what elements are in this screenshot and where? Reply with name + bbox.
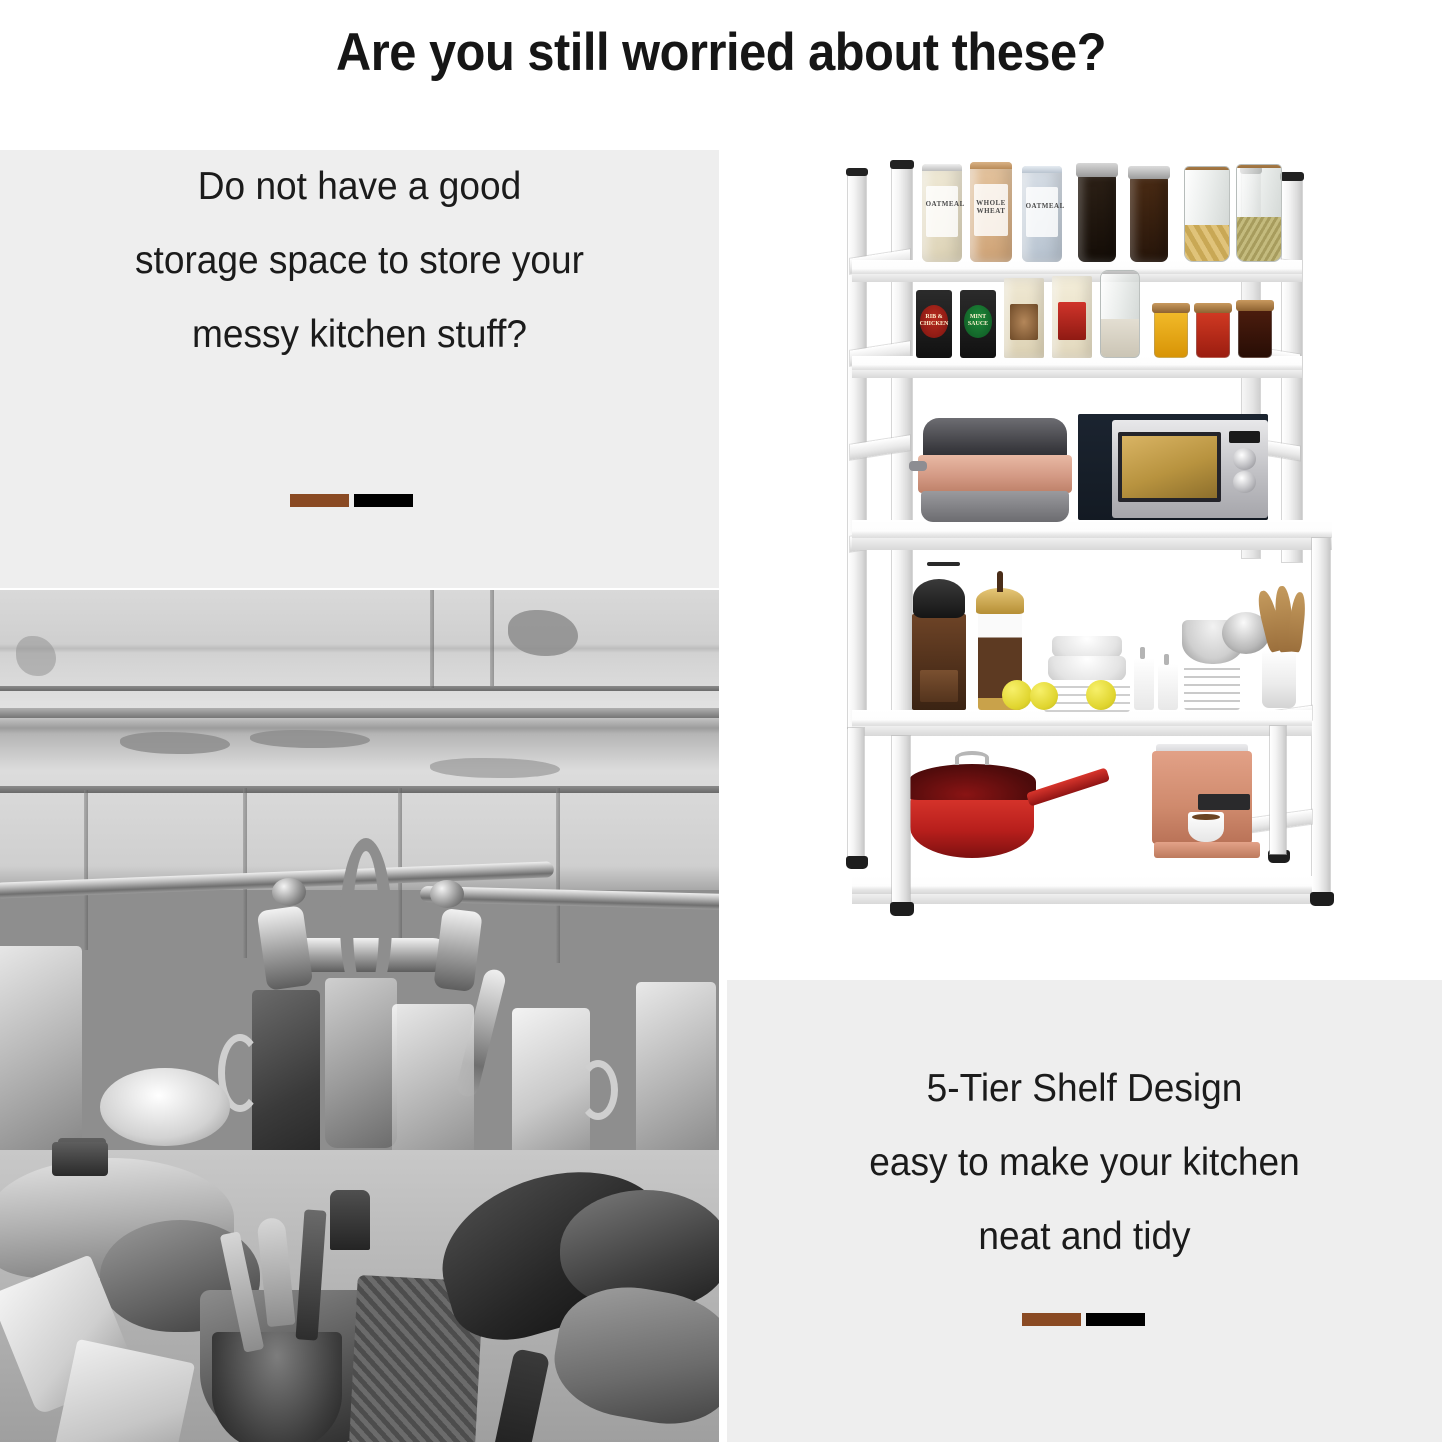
espresso-group-head — [1198, 794, 1250, 810]
faucet-handle — [430, 880, 464, 908]
solution-panel: 5-Tier Shelf Design easy to make your ki… — [727, 980, 1442, 1442]
pan-handle — [1026, 767, 1110, 806]
pot-lid-knob — [52, 1142, 108, 1176]
problem-panel: Do not have a good storage space to stor… — [0, 150, 719, 588]
dirty-glass — [0, 946, 82, 1156]
mug-handle — [578, 1060, 618, 1120]
jar-lid — [1152, 303, 1189, 313]
shelf-post-front-right-lower — [1312, 538, 1330, 896]
lemon — [1086, 680, 1116, 710]
microwave-front-panel — [1112, 420, 1268, 518]
dirty-plate — [100, 1068, 230, 1146]
messy-kitchen-photo — [0, 590, 719, 1442]
dispenser-nozzle — [1164, 654, 1169, 665]
small-jar-red — [1196, 310, 1230, 358]
wall-grout-line — [84, 790, 88, 950]
problem-divider — [290, 494, 413, 507]
wall-grout-line — [0, 708, 719, 718]
spatula-head — [330, 1190, 370, 1250]
divider-bar-brown — [1022, 1313, 1081, 1326]
post-cap — [1280, 172, 1304, 181]
wall-paint-chip — [430, 758, 560, 778]
canister-lid — [1022, 166, 1062, 173]
espresso-drip-tray — [1154, 842, 1260, 858]
problem-line-2: storage space to store your — [18, 224, 701, 298]
rice-cooker-base — [921, 491, 1069, 522]
grinder-crank — [927, 562, 959, 566]
box-label — [1010, 304, 1039, 341]
wall-grout-line — [430, 590, 434, 688]
wall-grout-line — [556, 788, 560, 963]
grinder-drawer — [920, 670, 959, 703]
sauce-label: RIB &CHICKEN — [920, 305, 949, 338]
shelf-foot — [846, 856, 868, 869]
microwave-control-panel — [1226, 428, 1263, 510]
wall-grout-line — [490, 590, 494, 686]
canister-oatmeal-2: OATMEAL — [1022, 166, 1062, 262]
microwave-display — [1229, 431, 1260, 442]
dirty-bowl — [212, 1332, 342, 1442]
solution-line-3: neat and tidy — [745, 1200, 1424, 1274]
grinder-dome — [913, 579, 965, 617]
cream-box-2 — [1052, 276, 1092, 358]
rice-cooker-lid — [923, 418, 1068, 460]
rice-cooker-handle — [909, 461, 927, 471]
press-lid — [976, 588, 1024, 613]
shelf-board-edge — [852, 894, 1312, 904]
shelf-leg-back-left — [848, 728, 864, 860]
canister-lid — [922, 164, 962, 171]
shelf-board-edge — [852, 370, 1302, 378]
glass-jar-pasta — [1184, 166, 1230, 262]
wall-paint-chip — [120, 732, 230, 754]
jar-lid — [1100, 270, 1140, 274]
microwave-door — [1118, 432, 1221, 502]
wall-paint-chip — [250, 730, 370, 748]
solution-line-2: easy to make your kitchen — [745, 1126, 1424, 1200]
utensil-crock — [1262, 650, 1296, 708]
microwave-oven — [1078, 414, 1268, 520]
canister-oatmeal-1: OATMEAL — [922, 164, 962, 262]
coffee-cup — [1188, 812, 1224, 842]
infographic-page: Are you still worried about these? Do no… — [0, 0, 1442, 1442]
small-jar-dark — [1238, 308, 1272, 358]
divider-bar-brown — [290, 494, 349, 507]
problem-text-block: Do not have a good storage space to stor… — [18, 150, 701, 372]
canister-whole-wheat: WHOLE WHEAT — [970, 162, 1012, 262]
problem-line-1: Do not have a good — [18, 150, 701, 224]
microwave-dial-lower — [1233, 471, 1255, 493]
cream-box-1 — [1004, 278, 1044, 358]
faucet-valve — [257, 905, 314, 991]
soap-dispenser-2 — [1158, 664, 1178, 710]
shelf-board-tier5 — [852, 876, 1312, 894]
post-cap — [890, 160, 914, 169]
jar-lid — [1184, 166, 1230, 170]
plate-stack-right — [1184, 662, 1240, 710]
jar-lid — [1194, 303, 1231, 313]
jar-lid — [1076, 163, 1117, 176]
shelf-board-edge — [852, 538, 1332, 550]
solution-line-1: 5-Tier Shelf Design — [745, 1052, 1424, 1126]
dark-jar-2 — [1130, 176, 1168, 262]
jar-lid — [1128, 166, 1169, 179]
problem-line-3: messy kitchen stuff? — [18, 298, 701, 372]
lemon — [1030, 682, 1058, 710]
canister-lid — [970, 162, 1012, 169]
faucet-handle — [272, 878, 306, 906]
shelf-foot — [890, 902, 914, 916]
solution-text-block: 5-Tier Shelf Design easy to make your ki… — [745, 1052, 1424, 1274]
sauce-jar-mint: MINTSAUCE — [960, 290, 996, 358]
canister-label: OATMEAL — [1026, 187, 1059, 237]
canister-label: WHOLE WHEAT — [974, 184, 1008, 236]
jar-contents-pasta — [1185, 225, 1229, 261]
pan-lid — [908, 764, 1037, 800]
faucet-valve — [433, 908, 482, 992]
jar-contents-flour — [1101, 319, 1139, 357]
shelf-product-photo: OATMEAL WHOLE WHEAT OATMEAL RIB &C — [790, 150, 1390, 960]
rice-cooker — [918, 418, 1072, 522]
shelf-board-edge — [852, 726, 1312, 736]
lemon — [1002, 680, 1032, 710]
jar-lid — [1236, 164, 1282, 168]
pan-lid-knob — [955, 751, 990, 765]
post-cap — [846, 168, 868, 176]
coffee-liquid — [1192, 814, 1221, 821]
divider-bar-black — [354, 494, 413, 507]
glass-jar-grains — [1236, 164, 1282, 262]
sauce-label: MINTSAUCE — [964, 305, 993, 338]
solution-divider — [1022, 1313, 1145, 1326]
canister-label: OATMEAL — [926, 186, 959, 237]
jar-lid — [1236, 300, 1273, 311]
shelf-foot — [1310, 892, 1334, 906]
shelf-leg-front-left — [892, 736, 910, 906]
coffee-grinder — [912, 614, 966, 710]
frying-pan — [910, 796, 1034, 858]
small-jar-honey — [1154, 310, 1188, 358]
box-label — [1058, 302, 1087, 340]
dispenser-nozzle — [1140, 647, 1145, 659]
dark-jar-1 — [1078, 174, 1116, 262]
wall-grout-line — [0, 686, 719, 691]
wall-grout-line — [0, 786, 719, 793]
sauce-jar-rib-chicken: RIB &CHICKEN — [916, 290, 952, 358]
dirty-glass — [636, 982, 716, 1168]
microwave-dial-upper — [1233, 448, 1255, 470]
dirty-mug — [325, 978, 397, 1148]
soap-dispenser-1 — [1134, 658, 1154, 710]
shelf-board-tier3 — [852, 520, 1332, 540]
rice-cooker-body — [918, 455, 1072, 492]
glass-canister-flour — [1100, 270, 1140, 358]
jar-contents-grains — [1237, 217, 1281, 261]
divider-bar-black — [1086, 1313, 1145, 1326]
press-plunger — [997, 571, 1002, 593]
shelf-leg-back-right — [1270, 726, 1286, 854]
page-title: Are you still worried about these? — [58, 22, 1385, 83]
